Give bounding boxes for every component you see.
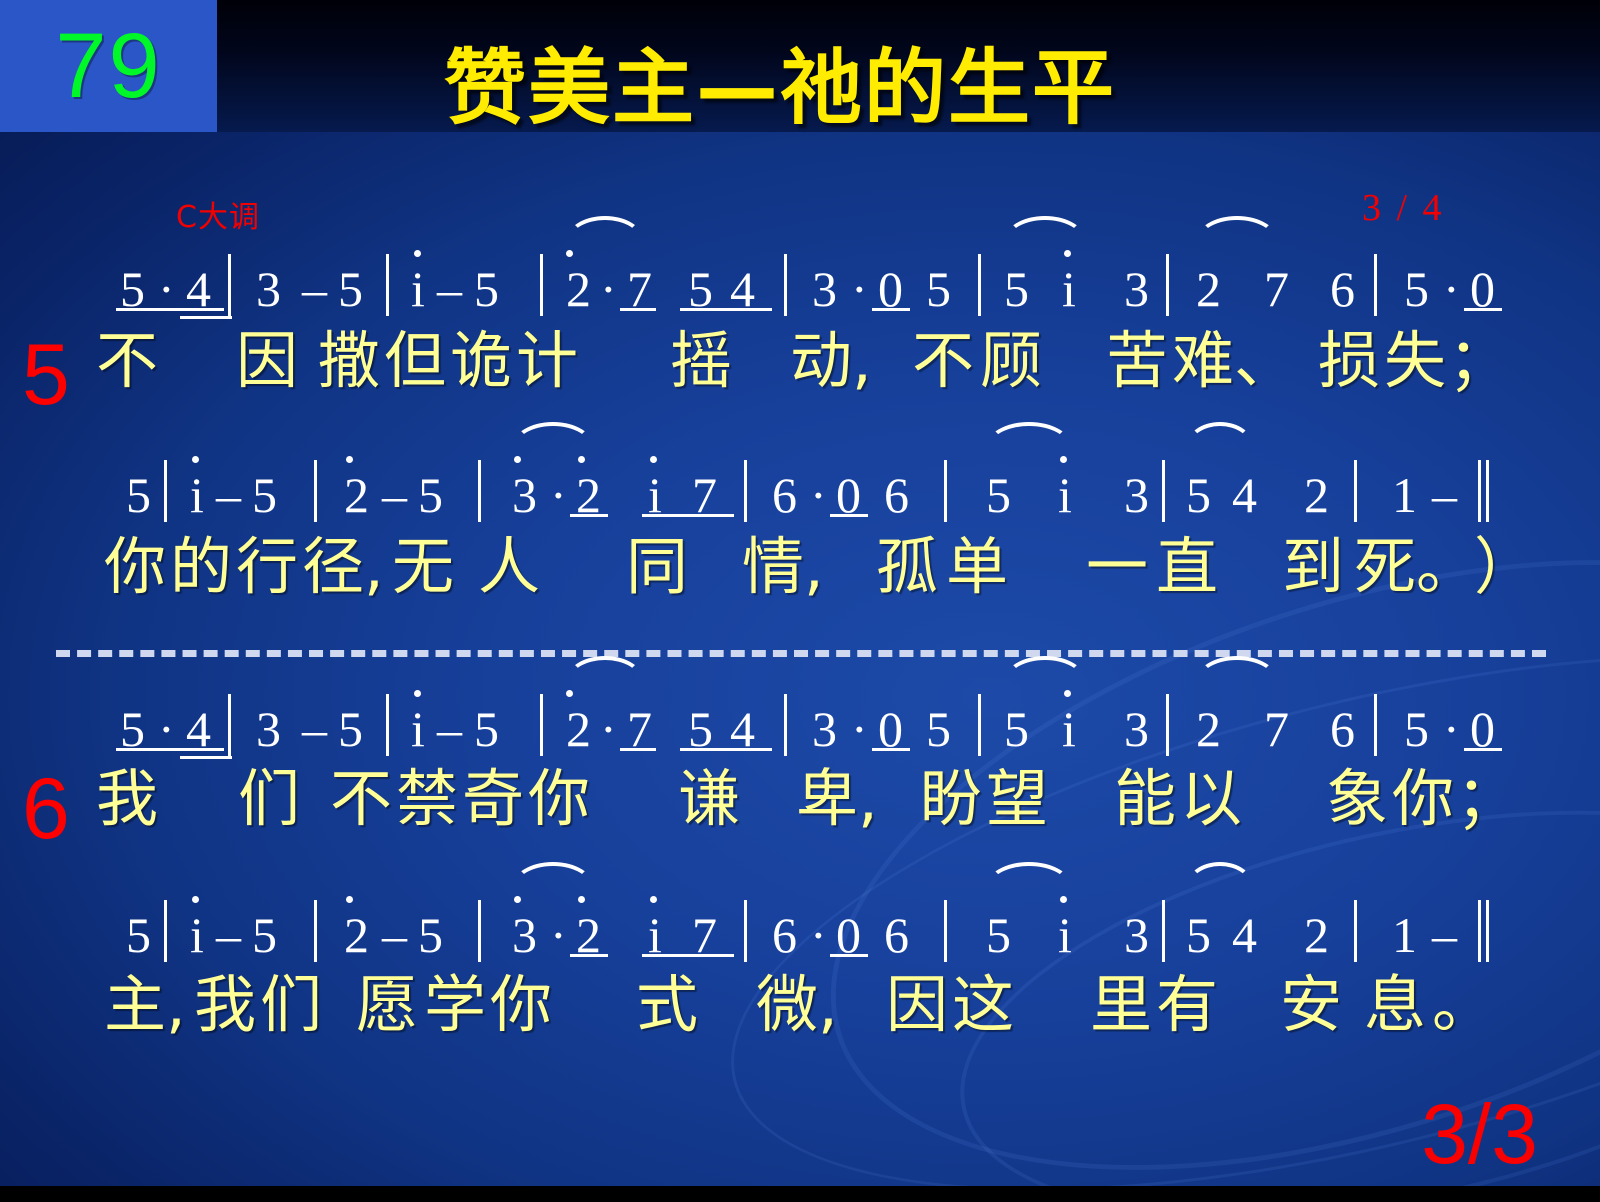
hymn-number-box: 79	[0, 0, 217, 132]
lyric-char: ；	[1448, 330, 1510, 392]
beam-underline	[680, 748, 772, 751]
time-signature: 3 / 4	[1362, 186, 1445, 230]
note-glyph: i	[1058, 466, 1072, 524]
note-glyph: 5	[1004, 700, 1029, 758]
section-divider	[56, 650, 1546, 657]
note-glyph: 7	[1264, 260, 1289, 318]
barline	[784, 254, 787, 316]
barline	[314, 460, 317, 522]
notation-row-4: 5i–52–53·2i76·065i35421–	[0, 892, 1600, 970]
lyric-char: 盼	[920, 768, 982, 830]
octave-dot	[346, 456, 353, 463]
lyric-char: 损	[1318, 330, 1380, 392]
beam-underline	[680, 308, 772, 311]
note-glyph: ·	[550, 906, 567, 964]
lyric-char: 象	[1326, 768, 1388, 830]
note-glyph: –	[302, 260, 327, 318]
note-glyph: 6	[772, 466, 797, 524]
note-glyph: ·	[810, 906, 827, 964]
note-glyph: 2	[566, 260, 591, 318]
octave-dot	[514, 896, 521, 903]
lyric-char: 你	[1392, 768, 1454, 830]
note-glyph: 5	[926, 700, 951, 758]
lyric-char: 因	[236, 330, 298, 392]
final-double-barline	[1478, 460, 1491, 522]
beam-underline	[180, 316, 232, 319]
note-glyph: 2	[1304, 466, 1329, 524]
lyric-char: 愿	[356, 974, 418, 1036]
note-glyph: 6	[884, 906, 909, 964]
slur-arc	[512, 422, 594, 452]
barline	[1354, 900, 1357, 962]
note-glyph: 5	[126, 906, 151, 964]
lyric-char: 这	[952, 974, 1014, 1036]
lyric-char: 无	[392, 536, 454, 598]
octave-dot	[566, 250, 573, 257]
note-glyph: i	[1062, 700, 1076, 758]
barline	[228, 254, 231, 316]
note-glyph: –	[216, 466, 241, 524]
barline	[744, 460, 747, 522]
barline	[1162, 460, 1165, 522]
note-glyph: 3	[256, 700, 281, 758]
barline	[1166, 694, 1169, 756]
lyric-char: 能	[1114, 768, 1176, 830]
barline	[1374, 254, 1377, 316]
lyric-char: 直	[1156, 536, 1218, 598]
note-glyph: 3	[1124, 906, 1149, 964]
note-glyph: 5	[1404, 700, 1429, 758]
note-glyph: 3	[812, 260, 837, 318]
octave-dot	[1064, 690, 1071, 697]
octave-dot	[192, 456, 199, 463]
lyric-char: 式	[636, 974, 698, 1036]
note-glyph: 3	[512, 466, 537, 524]
slur-arc	[1186, 422, 1254, 452]
notation-system-4: 5i–52–53·2i76·065i35421–	[0, 892, 1600, 970]
beam-underline	[872, 748, 910, 751]
lyric-char: 主,	[104, 974, 186, 1036]
lyric-char: 们	[238, 768, 300, 830]
lyric-char: 死	[1354, 536, 1416, 598]
note-glyph: i	[411, 700, 425, 758]
beam-underline	[830, 514, 868, 517]
page-title: 赞美主—祂的生平	[330, 48, 1230, 130]
lyric-char: 径,	[302, 536, 384, 598]
note-glyph: i	[1058, 906, 1072, 964]
barline	[784, 694, 787, 756]
barline	[944, 460, 947, 522]
notation-row-1: 5·43–5i–52·7543·055i32765·0	[0, 246, 1600, 324]
notation-system-2: 5i–52–53·2i76·065i35421–	[0, 452, 1600, 530]
lyric-char: 顾	[980, 330, 1042, 392]
octave-dot	[566, 690, 573, 697]
octave-dot	[1064, 250, 1071, 257]
note-glyph: 5	[338, 700, 363, 758]
notation-row-3: 5·43–5i–52·7543·055i32765·0	[0, 686, 1600, 764]
final-double-barline	[1478, 900, 1491, 962]
barline	[540, 254, 543, 316]
note-glyph: 5	[252, 466, 277, 524]
note-glyph: –	[382, 466, 407, 524]
lyric-char: 你	[528, 768, 590, 830]
note-glyph: –	[1432, 466, 1457, 524]
barline	[944, 900, 947, 962]
note-glyph: 2	[1196, 260, 1221, 318]
barline	[978, 254, 981, 316]
lyric-char: 有	[1156, 974, 1218, 1036]
slur-arc	[1196, 216, 1278, 246]
note-glyph: 3	[256, 260, 281, 318]
lyric-char: 奇	[462, 768, 524, 830]
slur-arc	[986, 422, 1072, 452]
stanza-number-6: 6	[22, 766, 70, 852]
slur-arc	[1004, 656, 1086, 686]
note-glyph: –	[302, 700, 327, 758]
slur-arc	[566, 656, 644, 686]
beam-underline	[872, 308, 910, 311]
note-glyph: 2	[1196, 700, 1221, 758]
octave-dot	[514, 456, 521, 463]
lyric-char: 行	[236, 536, 298, 598]
note-glyph: 2	[344, 906, 369, 964]
barline	[478, 900, 481, 962]
note-glyph: ·	[600, 700, 617, 758]
lyric-char: 情,	[742, 536, 824, 598]
lyric-char: 微,	[756, 974, 838, 1036]
note-glyph: 2	[344, 466, 369, 524]
barline	[978, 694, 981, 756]
note-glyph: 5	[1004, 260, 1029, 318]
lyric-char: 禁	[396, 768, 458, 830]
octave-dot	[414, 690, 421, 697]
note-glyph: 5	[126, 466, 151, 524]
lyric-char: 你	[490, 974, 552, 1036]
barline	[540, 694, 543, 756]
note-glyph: 6	[772, 906, 797, 964]
note-glyph: 3	[1124, 700, 1149, 758]
barline	[386, 254, 389, 316]
lyric-char: ；	[1456, 768, 1518, 830]
note-glyph: 5	[986, 466, 1011, 524]
beam-underline	[642, 514, 734, 517]
octave-dot	[1060, 896, 1067, 903]
note-glyph: ·	[550, 466, 567, 524]
lyric-char: 安	[1280, 974, 1342, 1036]
note-glyph: 5	[926, 260, 951, 318]
note-glyph: 6	[1330, 260, 1355, 318]
notation-row-2: 5i–52–53·2i76·065i35421–	[0, 452, 1600, 530]
octave-dot	[578, 896, 585, 903]
lyric-char: 难、	[1172, 330, 1296, 392]
lyric-char: 里	[1090, 974, 1152, 1036]
note-glyph: ·	[1443, 260, 1460, 318]
lyric-char: 撒	[318, 330, 380, 392]
note-glyph: 7	[1264, 700, 1289, 758]
octave-dot	[650, 896, 657, 903]
beam-underline	[1464, 308, 1502, 311]
note-glyph: i	[411, 260, 425, 318]
note-glyph: 5	[986, 906, 1011, 964]
note-glyph: 6	[884, 466, 909, 524]
note-glyph: 5	[474, 700, 499, 758]
note-glyph: 3	[1124, 260, 1149, 318]
note-glyph: 5	[1186, 906, 1211, 964]
note-glyph: 5	[338, 260, 363, 318]
octave-dot	[650, 456, 657, 463]
key-signature: C大调	[176, 192, 260, 236]
note-glyph: i	[190, 906, 204, 964]
lyric-char: 因	[886, 974, 948, 1036]
barline	[744, 900, 747, 962]
beam-underline	[180, 308, 224, 311]
beam-underline	[642, 954, 734, 957]
note-glyph: i	[190, 466, 204, 524]
barline	[386, 694, 389, 756]
lyric-char: 动,	[790, 330, 872, 392]
lyric-char: 我	[96, 768, 158, 830]
lyric-char: 学	[424, 974, 486, 1036]
beam-underline	[620, 748, 656, 751]
notation-system-3: 5·43–5i–52·7543·055i32765·0	[0, 686, 1600, 764]
slur-arc	[512, 862, 594, 892]
hymn-number: 79	[55, 20, 161, 112]
lyric-char: 摇	[670, 330, 732, 392]
lyric-char: 以	[1180, 768, 1242, 830]
slur-arc	[1196, 656, 1278, 686]
lyric-char: ）	[1474, 536, 1536, 598]
note-glyph: 3	[812, 700, 837, 758]
lyric-char: 。	[1432, 974, 1494, 1036]
slur-arc	[986, 862, 1072, 892]
beam-underline	[570, 514, 608, 517]
notation-system-1: 5·43–5i–52·7543·055i32765·0	[0, 246, 1600, 324]
note-glyph: ·	[600, 260, 617, 318]
note-glyph: 5	[418, 466, 443, 524]
beam-underline	[180, 748, 224, 751]
lyric-char: 但	[384, 330, 446, 392]
lyric-char: 息	[1364, 974, 1426, 1036]
octave-dot	[414, 250, 421, 257]
barline	[164, 460, 167, 522]
lyric-char: 人	[478, 536, 540, 598]
note-glyph: 4	[1232, 906, 1257, 964]
lyric-char: 你	[104, 536, 166, 598]
lyric-char: 到	[1282, 536, 1344, 598]
beam-underline	[620, 308, 656, 311]
note-glyph: –	[1432, 906, 1457, 964]
note-glyph: –	[216, 906, 241, 964]
note-glyph: –	[437, 700, 462, 758]
lyric-char: 不	[96, 330, 158, 392]
note-glyph: 3	[1124, 466, 1149, 524]
note-glyph: 5	[1186, 466, 1211, 524]
lyric-char: 苦	[1106, 330, 1168, 392]
lyric-char: 望	[986, 768, 1048, 830]
lyric-char: 不	[912, 330, 974, 392]
lyric-char: 一	[1086, 536, 1148, 598]
note-glyph: –	[437, 260, 462, 318]
lyric-char: 卑,	[796, 768, 878, 830]
note-glyph: 2	[1304, 906, 1329, 964]
note-glyph: 3	[512, 906, 537, 964]
octave-dot	[1060, 456, 1067, 463]
note-glyph: ·	[810, 466, 827, 524]
note-glyph: 2	[566, 700, 591, 758]
presentation-slide: 79 赞美主—祂的生平 C大调 3 / 4 5·43–5i–52·7543·05…	[0, 0, 1600, 1202]
lyric-char: 孤	[876, 536, 938, 598]
note-glyph: 5	[252, 906, 277, 964]
lyric-char: 我	[194, 974, 256, 1036]
note-glyph: 1	[1392, 466, 1417, 524]
bottom-band	[0, 1186, 1600, 1202]
lyric-char: 单	[946, 536, 1008, 598]
octave-dot	[192, 896, 199, 903]
lyric-char: 失	[1384, 330, 1446, 392]
lyric-char: 的	[170, 536, 232, 598]
note-glyph: i	[1062, 260, 1076, 318]
barline	[1374, 694, 1377, 756]
beam-underline	[830, 954, 868, 957]
barline	[478, 460, 481, 522]
lyric-char: 同	[626, 536, 688, 598]
beam-underline	[570, 954, 608, 957]
octave-dot	[578, 456, 585, 463]
note-glyph: ·	[851, 260, 868, 318]
barline	[164, 900, 167, 962]
slur-arc	[566, 216, 644, 246]
note-glyph: 5	[1404, 260, 1429, 318]
barline	[1162, 900, 1165, 962]
lyric-char: 谦	[678, 768, 740, 830]
barline	[228, 694, 231, 756]
lyric-char: 们	[260, 974, 322, 1036]
lyric-char: 计	[516, 330, 578, 392]
beam-underline	[180, 756, 232, 759]
page-indicator: 3/3	[1421, 1092, 1538, 1176]
note-glyph: 1	[1392, 906, 1417, 964]
note-glyph: 5	[418, 906, 443, 964]
barline	[314, 900, 317, 962]
lyric-char: 诡	[450, 330, 512, 392]
note-glyph: 6	[1330, 700, 1355, 758]
slur-arc	[1186, 862, 1254, 892]
note-glyph: ·	[1443, 700, 1460, 758]
note-glyph: 5	[474, 260, 499, 318]
barline	[1166, 254, 1169, 316]
lyric-char: 。	[1416, 536, 1478, 598]
barline	[1354, 460, 1357, 522]
note-glyph: –	[382, 906, 407, 964]
octave-dot	[346, 896, 353, 903]
note-glyph: ·	[851, 700, 868, 758]
slur-arc	[1004, 216, 1086, 246]
beam-underline	[1464, 748, 1502, 751]
stanza-number-5: 5	[22, 332, 70, 418]
note-glyph: 4	[1232, 466, 1257, 524]
lyric-char: 不	[330, 768, 392, 830]
